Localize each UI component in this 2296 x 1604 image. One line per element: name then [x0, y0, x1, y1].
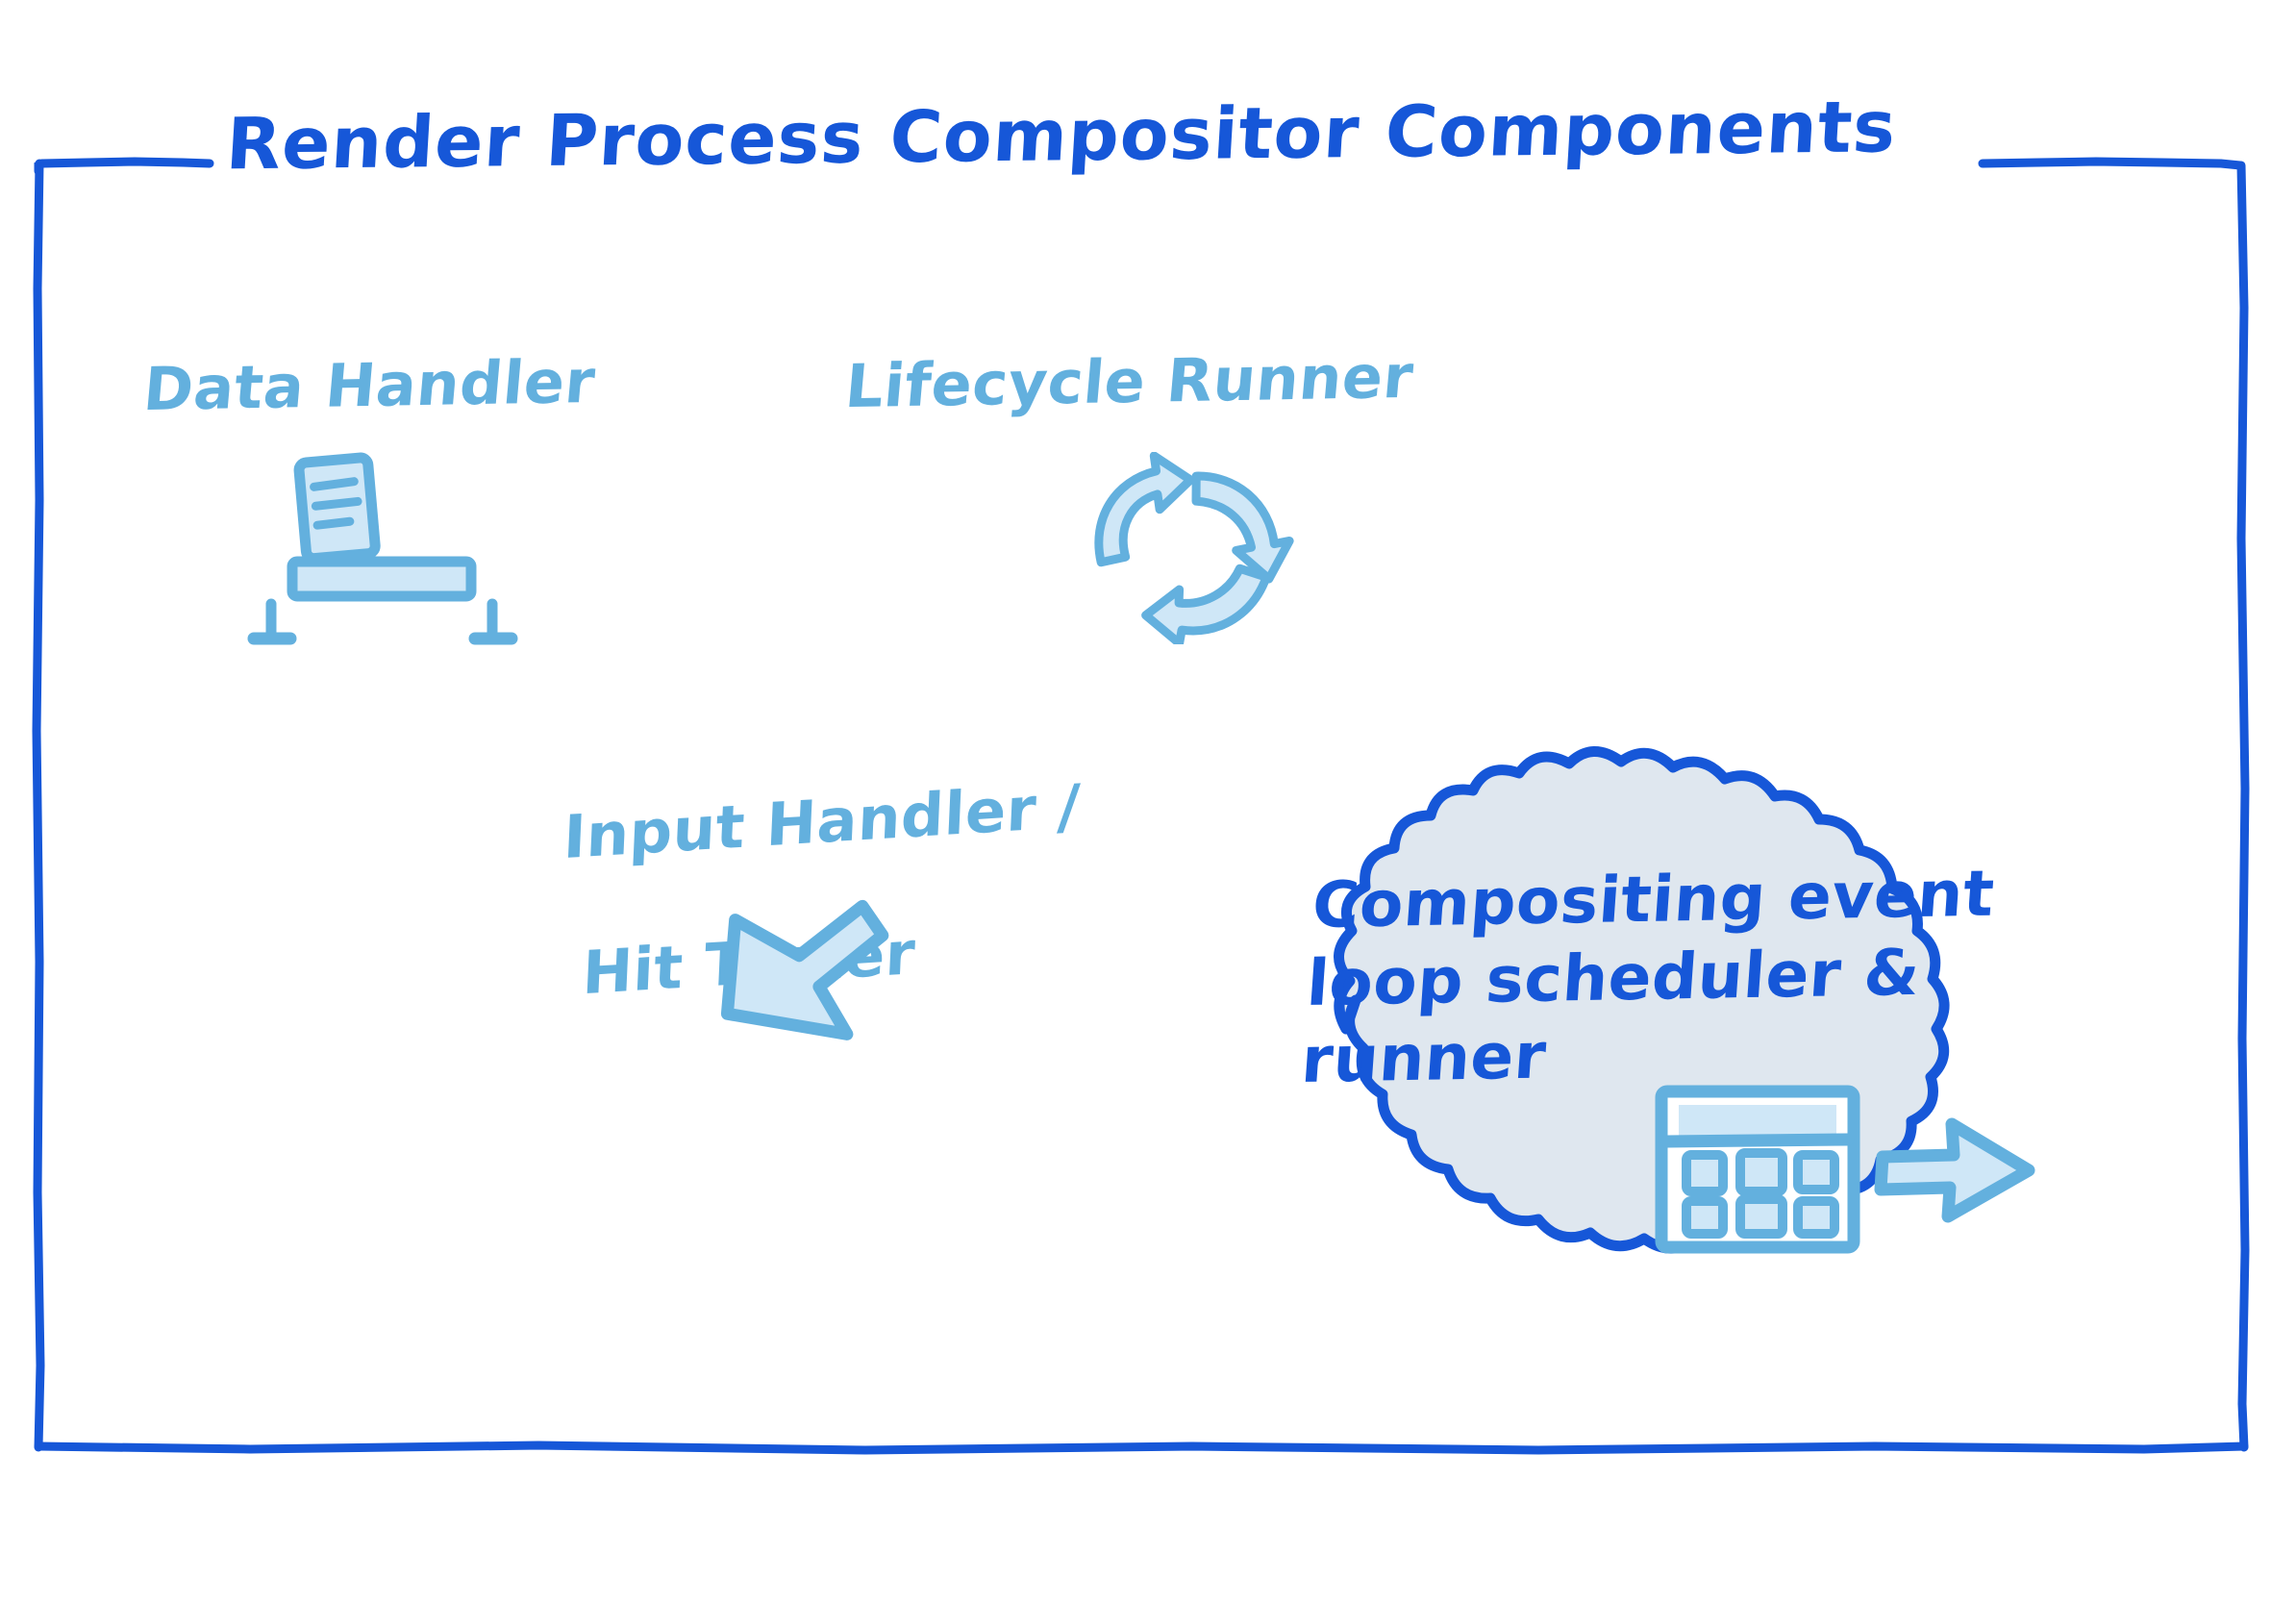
frame-right-edge	[2241, 165, 2245, 1447]
label-data-handler: Data Handler	[141, 348, 598, 423]
page-title: Render Process Compositor Components	[224, 86, 1960, 187]
mouse-cursor-arrow-icon	[710, 885, 892, 1052]
document-on-bench-icon	[237, 448, 525, 673]
frame-bottom-edge	[38, 1445, 2244, 1450]
frame-top-left-segment	[38, 162, 210, 171]
label-lifecycle-runner: Lifecycle Runner	[842, 343, 1415, 420]
calendar-schedule-with-arrow-icon	[1654, 1082, 2038, 1264]
frame-top-right-segment	[1983, 162, 2240, 165]
frame-left-edge	[37, 163, 40, 1447]
recycle-cycle-arrows-icon	[1086, 452, 1298, 648]
cloud-text: Compositing event loop scheduler & runne…	[1299, 854, 2085, 1099]
cloud-callout: Compositing event loop scheduler & runne…	[1154, 740, 2173, 1379]
label-input-handler-line1: Input Handler /	[562, 771, 1082, 873]
